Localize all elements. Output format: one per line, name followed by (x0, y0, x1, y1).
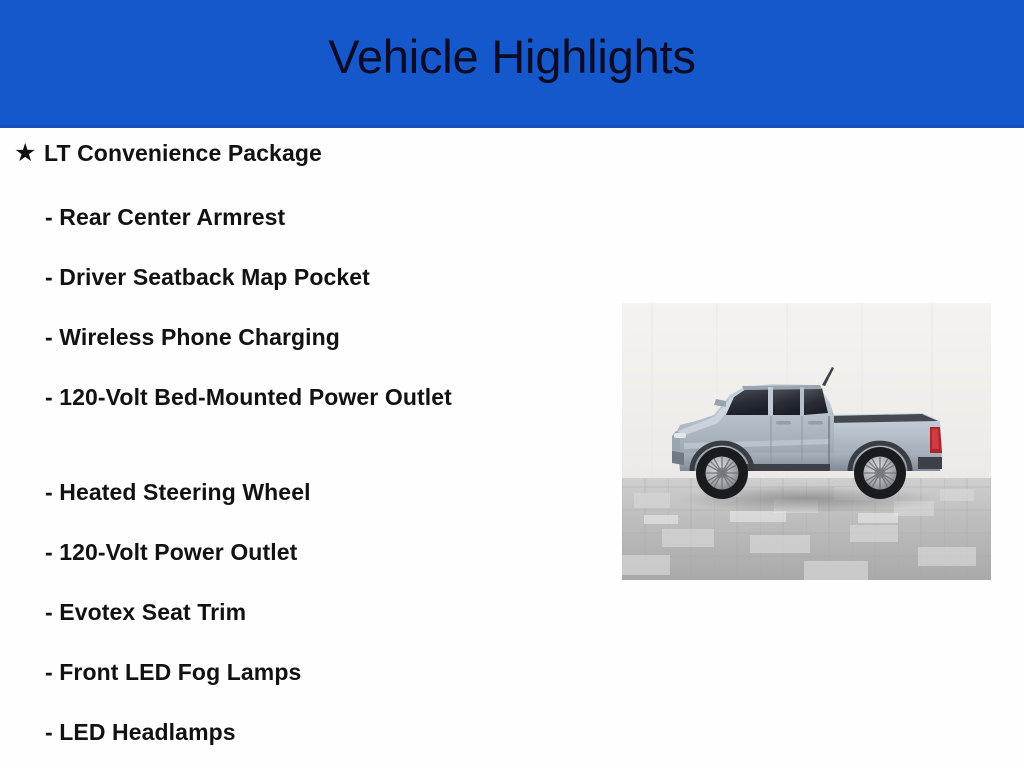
list-item: - Front LED Fog Lamps (0, 646, 560, 706)
feature-label: - Evotex Seat Trim (45, 586, 490, 630)
feature-label: - 120-Volt Bed-Mounted Power Outlet (45, 371, 490, 415)
list-item: - Rear Center Armrest (0, 191, 560, 251)
list-item: - Driver Seatback Map Pocket (0, 251, 560, 311)
page-title: Vehicle Highlights (0, 33, 1024, 80)
list-item: - Evotex Seat Trim (0, 586, 560, 646)
list-item: - Wireless Phone Charging (0, 311, 560, 371)
feature-label: - Rear Center Armrest (45, 191, 490, 235)
feature-label: - 120-Volt Power Outlet (45, 526, 490, 570)
vehicle-photo (622, 303, 991, 580)
feature-label: - Wireless Phone Charging (45, 311, 490, 355)
vehicle-side-profile-illustration (622, 303, 991, 580)
feature-label: - Driver Seatback Map Pocket (45, 251, 490, 295)
list-item: - Heated Steering Wheel (0, 466, 560, 526)
package-name-label: LT Convenience Package (44, 131, 322, 175)
vehicle-highlights-list: ★ LT Convenience Package - Rear Center A… (0, 131, 560, 766)
list-item-headline: ★ LT Convenience Package (0, 131, 560, 191)
star-icon: ★ (14, 131, 44, 175)
feature-label: - LED Headlamps (45, 706, 490, 750)
list-item: - LED Headlamps (0, 706, 560, 766)
list-item: - 120-Volt Power Outlet (0, 526, 560, 586)
slide-header-band: Vehicle Highlights (0, 0, 1024, 128)
feature-label: - Front LED Fog Lamps (45, 646, 490, 690)
list-item: - 120-Volt Bed-Mounted Power Outlet (0, 371, 560, 466)
feature-label: - Heated Steering Wheel (45, 466, 490, 510)
